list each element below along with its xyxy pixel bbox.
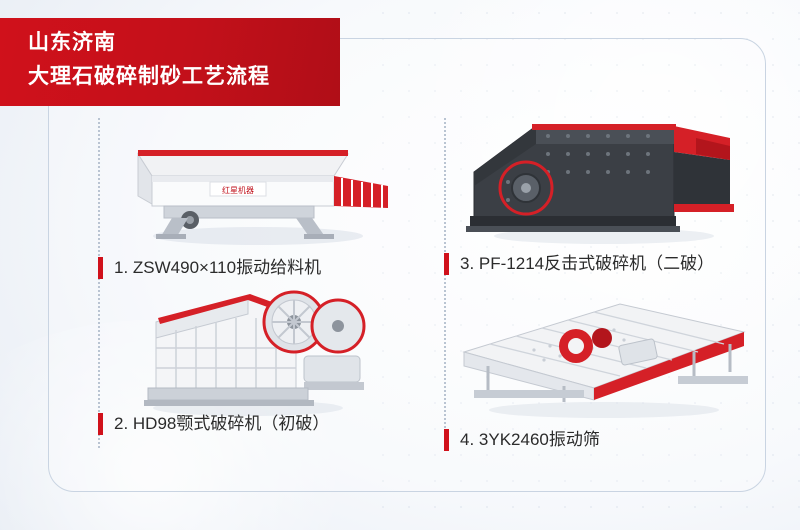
poster-root: 山东济南 大理石破碎制砂工艺流程 bbox=[0, 0, 800, 530]
3yk2460-vibrating-screen-icon bbox=[444, 292, 774, 418]
process-step-3[interactable]: 3. PF-1214反击式破碎机（二破） bbox=[444, 108, 774, 276]
zsw-vibrating-feeder-icon: 红星机器 bbox=[98, 120, 418, 248]
process-step-4[interactable]: 4. 3YK2460振动筛 bbox=[444, 292, 774, 452]
process-step-3-label: 3. PF-1214反击式破碎机（二破） bbox=[444, 252, 774, 276]
process-step-4-label: 4. 3YK2460振动筛 bbox=[444, 428, 774, 452]
pf1214-impact-crusher-icon bbox=[444, 108, 774, 244]
process-step-1[interactable]: 红星机器 1. ZSW490×110振动给料机 bbox=[98, 120, 418, 280]
vibrating-feeder-image: 红星机器 bbox=[98, 120, 418, 248]
impact-crusher-image bbox=[444, 108, 774, 236]
svg-text:红星机器: 红星机器 bbox=[222, 185, 254, 195]
vibrating-screen-image bbox=[444, 292, 774, 420]
hd98-jaw-crusher-icon bbox=[98, 270, 418, 420]
banner-title-line-2: 大理石破碎制砂工艺流程 bbox=[28, 62, 270, 92]
banner-title-line-1: 山东济南 bbox=[28, 28, 116, 58]
process-step-2-label: 2. HD98颚式破碎机（初破） bbox=[98, 412, 418, 436]
jaw-crusher-image bbox=[98, 270, 418, 398]
process-step-2[interactable]: 2. HD98颚式破碎机（初破） bbox=[98, 270, 418, 436]
title-banner: 山东济南 大理石破碎制砂工艺流程 bbox=[0, 18, 340, 106]
